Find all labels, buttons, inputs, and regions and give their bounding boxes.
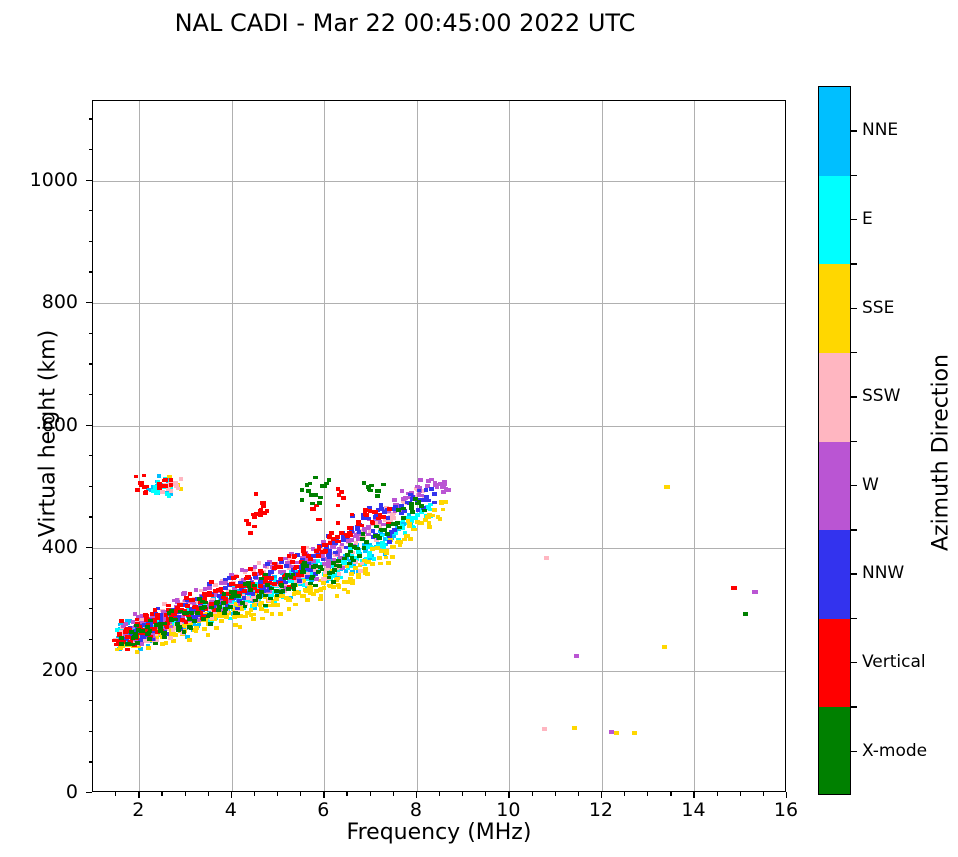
data-point bbox=[300, 570, 305, 574]
x-tick-minor bbox=[208, 792, 209, 796]
data-point bbox=[257, 594, 262, 598]
data-point bbox=[272, 582, 277, 586]
data-point bbox=[390, 555, 395, 559]
colorbar-band-ssw[interactable] bbox=[819, 353, 850, 442]
data-point bbox=[179, 477, 184, 481]
data-point bbox=[305, 598, 310, 602]
data-point bbox=[409, 506, 414, 510]
data-point bbox=[259, 590, 264, 594]
x-tick-minor bbox=[578, 792, 579, 796]
x-tick-label: 16 bbox=[774, 799, 798, 821]
data-point bbox=[386, 524, 391, 528]
data-point bbox=[415, 520, 420, 524]
data-point bbox=[285, 573, 290, 577]
data-point bbox=[155, 616, 160, 620]
data-point bbox=[265, 509, 270, 513]
y-axis-label: Virtual height (km) bbox=[36, 154, 61, 714]
data-point bbox=[662, 645, 667, 649]
data-point bbox=[372, 557, 377, 561]
data-point bbox=[297, 579, 302, 583]
data-point bbox=[201, 617, 206, 621]
data-point bbox=[270, 612, 275, 616]
plot-area[interactable] bbox=[92, 100, 786, 792]
x-tick-minor bbox=[555, 792, 556, 796]
x-tick-label: 8 bbox=[410, 799, 422, 821]
colorbar[interactable] bbox=[818, 86, 851, 795]
colorbar-band-sse[interactable] bbox=[819, 264, 850, 353]
data-point bbox=[392, 498, 397, 502]
y-tick bbox=[86, 792, 92, 793]
x-tick-minor bbox=[740, 792, 741, 796]
data-point bbox=[664, 485, 669, 489]
data-point bbox=[310, 575, 315, 579]
data-point bbox=[387, 540, 392, 544]
data-point bbox=[336, 559, 341, 563]
data-point bbox=[194, 630, 199, 634]
data-point bbox=[317, 501, 322, 505]
data-point bbox=[310, 507, 315, 511]
data-point bbox=[342, 557, 347, 561]
data-point bbox=[411, 528, 416, 532]
x-tick-label: 10 bbox=[496, 799, 520, 821]
colorbar-band-nnw[interactable] bbox=[819, 530, 850, 619]
data-point bbox=[336, 540, 341, 544]
data-point bbox=[375, 494, 380, 498]
data-point bbox=[331, 561, 336, 565]
data-point bbox=[233, 623, 238, 627]
data-point bbox=[178, 610, 183, 614]
x-tick-minor bbox=[439, 792, 440, 796]
data-point bbox=[184, 596, 189, 600]
data-point bbox=[243, 615, 248, 619]
data-point bbox=[435, 486, 440, 490]
data-point bbox=[354, 547, 359, 551]
data-point bbox=[310, 502, 315, 506]
data-point bbox=[160, 490, 165, 494]
data-point bbox=[261, 505, 266, 509]
data-point bbox=[379, 507, 384, 511]
data-point bbox=[348, 543, 353, 547]
data-point bbox=[335, 535, 340, 539]
data-point bbox=[213, 583, 218, 587]
colorbar-boundary-tick bbox=[851, 352, 857, 353]
data-point bbox=[276, 603, 281, 607]
data-point bbox=[214, 626, 219, 630]
data-point bbox=[254, 492, 259, 496]
data-point bbox=[291, 583, 296, 587]
data-point bbox=[119, 619, 124, 623]
data-point bbox=[331, 580, 336, 584]
y-tick-minor bbox=[89, 363, 93, 364]
data-point bbox=[242, 596, 247, 600]
data-point bbox=[148, 619, 153, 623]
data-point bbox=[263, 604, 268, 608]
x-tick-label: 4 bbox=[225, 799, 237, 821]
data-point bbox=[432, 508, 437, 512]
x-tick bbox=[231, 792, 232, 798]
x-tick-minor bbox=[393, 792, 394, 796]
data-point bbox=[396, 508, 401, 512]
colorbar-label-vertical: Vertical bbox=[862, 652, 926, 672]
data-point bbox=[350, 581, 355, 585]
data-point bbox=[348, 550, 353, 554]
data-point bbox=[308, 582, 313, 586]
data-point bbox=[356, 522, 361, 526]
x-tick-label: 12 bbox=[589, 799, 613, 821]
data-point bbox=[743, 612, 748, 616]
data-point bbox=[194, 588, 199, 592]
data-point bbox=[367, 487, 372, 491]
data-point bbox=[424, 488, 429, 492]
data-point bbox=[614, 731, 619, 735]
data-point bbox=[401, 507, 406, 511]
data-point bbox=[350, 513, 355, 517]
data-point bbox=[252, 603, 257, 607]
data-point bbox=[401, 516, 406, 520]
data-point bbox=[182, 630, 187, 634]
data-point bbox=[342, 588, 347, 592]
data-point bbox=[327, 478, 332, 482]
data-point bbox=[272, 566, 277, 570]
y-tick-minor bbox=[89, 118, 93, 119]
data-point bbox=[322, 586, 327, 590]
data-point bbox=[283, 577, 288, 581]
x-tick bbox=[323, 792, 324, 798]
data-point bbox=[279, 590, 284, 594]
data-point bbox=[258, 603, 263, 607]
data-point bbox=[157, 623, 162, 627]
data-point bbox=[284, 564, 289, 568]
data-point bbox=[134, 475, 139, 479]
data-point bbox=[279, 560, 284, 564]
data-point bbox=[422, 509, 427, 513]
x-tick-minor bbox=[254, 792, 255, 796]
data-point bbox=[222, 611, 227, 615]
data-point bbox=[542, 727, 547, 731]
data-point bbox=[350, 556, 355, 560]
data-point bbox=[544, 556, 549, 560]
colorbar-boundary-tick bbox=[851, 529, 857, 530]
data-point bbox=[272, 562, 277, 566]
data-point bbox=[125, 648, 130, 652]
data-point bbox=[291, 573, 296, 577]
data-point bbox=[399, 512, 404, 516]
data-point bbox=[327, 556, 332, 560]
colorbar-label-x-mode: X-mode bbox=[862, 741, 927, 761]
data-point bbox=[313, 584, 318, 588]
data-point bbox=[386, 516, 391, 520]
data-point bbox=[609, 730, 614, 734]
colorbar-tick bbox=[851, 396, 857, 397]
data-point bbox=[242, 589, 247, 593]
data-point bbox=[129, 630, 134, 634]
y-tick bbox=[86, 670, 92, 671]
data-point bbox=[441, 490, 446, 494]
data-point bbox=[190, 611, 195, 615]
data-point bbox=[142, 474, 147, 478]
data-point bbox=[349, 538, 354, 542]
data-point bbox=[135, 650, 140, 654]
data-point bbox=[168, 636, 173, 640]
data-point bbox=[207, 587, 212, 591]
data-point bbox=[216, 608, 221, 612]
x-tick-minor bbox=[763, 792, 764, 796]
data-point bbox=[337, 586, 342, 590]
data-point bbox=[341, 496, 346, 500]
data-point bbox=[219, 619, 224, 623]
data-point bbox=[348, 533, 353, 537]
data-point bbox=[252, 584, 257, 588]
data-point bbox=[417, 500, 422, 504]
data-point bbox=[300, 488, 305, 492]
data-point bbox=[264, 609, 269, 613]
data-point bbox=[347, 526, 352, 530]
x-tick-minor bbox=[370, 792, 371, 796]
data-point bbox=[200, 600, 205, 604]
data-point bbox=[175, 622, 180, 626]
colorbar-label-e: E bbox=[862, 209, 873, 229]
data-point bbox=[381, 544, 386, 548]
data-point bbox=[181, 592, 186, 596]
data-point bbox=[407, 522, 412, 526]
data-point bbox=[279, 583, 284, 587]
data-point bbox=[322, 550, 327, 554]
data-point bbox=[384, 549, 389, 553]
data-point bbox=[251, 592, 256, 596]
x-tick-minor bbox=[462, 792, 463, 796]
y-tick bbox=[86, 425, 92, 426]
data-point bbox=[402, 538, 407, 542]
colorbar-label-sse: SSE bbox=[862, 298, 894, 318]
x-tick bbox=[416, 792, 417, 798]
y-tick-minor bbox=[89, 271, 93, 272]
data-point bbox=[247, 585, 252, 589]
data-point bbox=[135, 488, 140, 492]
data-point bbox=[363, 512, 368, 516]
colorbar-label-ssw: SSW bbox=[862, 386, 900, 406]
data-point bbox=[331, 585, 336, 589]
data-point bbox=[300, 498, 305, 502]
data-point bbox=[293, 567, 298, 571]
colorbar-tick bbox=[851, 130, 857, 131]
data-point bbox=[572, 726, 577, 730]
data-point bbox=[436, 515, 441, 519]
data-point bbox=[410, 510, 415, 514]
x-tick-minor bbox=[624, 792, 625, 796]
data-point bbox=[144, 614, 149, 618]
colorbar-tick bbox=[851, 662, 857, 663]
data-point bbox=[400, 489, 405, 493]
data-point bbox=[378, 562, 383, 566]
data-point bbox=[287, 607, 292, 611]
data-point bbox=[360, 537, 365, 541]
data-point bbox=[244, 519, 249, 523]
x-tick-minor bbox=[115, 792, 116, 796]
data-point bbox=[119, 636, 124, 640]
data-point bbox=[369, 484, 374, 488]
data-point bbox=[387, 507, 392, 511]
data-point bbox=[442, 482, 447, 486]
data-point bbox=[377, 556, 382, 560]
data-point bbox=[337, 572, 342, 576]
data-point bbox=[269, 576, 274, 580]
y-tick-minor bbox=[89, 455, 93, 456]
data-point bbox=[278, 557, 283, 561]
data-point bbox=[237, 594, 242, 598]
data-point bbox=[752, 590, 757, 594]
data-point bbox=[187, 638, 192, 642]
data-point bbox=[153, 642, 158, 646]
y-tick-minor bbox=[89, 241, 93, 242]
data-point bbox=[259, 577, 264, 581]
data-point bbox=[279, 565, 284, 569]
data-point bbox=[333, 551, 338, 555]
y-tick bbox=[86, 180, 92, 181]
colorbar-band-x-mode[interactable] bbox=[819, 707, 850, 795]
data-point bbox=[317, 518, 322, 522]
data-point bbox=[358, 569, 363, 573]
data-point bbox=[268, 604, 273, 608]
data-point bbox=[133, 632, 138, 636]
data-point bbox=[316, 554, 321, 558]
x-tick-minor bbox=[717, 792, 718, 796]
y-tick-minor bbox=[89, 639, 93, 640]
data-point bbox=[417, 489, 422, 493]
colorbar-band-vertical[interactable] bbox=[819, 619, 850, 708]
data-point bbox=[365, 572, 370, 576]
data-point bbox=[398, 543, 403, 547]
data-point bbox=[173, 633, 178, 637]
data-point bbox=[426, 479, 431, 483]
data-point bbox=[146, 646, 151, 650]
data-point bbox=[189, 626, 194, 630]
data-point bbox=[426, 499, 431, 503]
data-point bbox=[135, 641, 140, 645]
data-point bbox=[355, 527, 360, 531]
data-point bbox=[157, 474, 162, 478]
colorbar-band-nne[interactable] bbox=[819, 87, 850, 176]
data-point bbox=[176, 628, 181, 632]
data-point bbox=[246, 611, 251, 615]
data-point bbox=[222, 592, 227, 596]
data-point bbox=[292, 587, 297, 591]
colorbar-band-w[interactable] bbox=[819, 442, 850, 531]
data-point bbox=[321, 558, 326, 562]
data-point bbox=[263, 594, 268, 598]
data-point bbox=[231, 576, 236, 580]
colorbar-label-nnw: NNW bbox=[862, 563, 904, 583]
data-point bbox=[246, 522, 251, 526]
data-point bbox=[408, 537, 413, 541]
data-point bbox=[381, 483, 386, 487]
data-point bbox=[416, 508, 421, 512]
colorbar-boundary-tick bbox=[851, 263, 857, 264]
data-point bbox=[337, 564, 342, 568]
data-point bbox=[252, 572, 257, 576]
y-tick-minor bbox=[89, 516, 93, 517]
y-tick-minor bbox=[89, 149, 93, 150]
x-tick-label: 2 bbox=[132, 799, 144, 821]
data-point bbox=[173, 481, 178, 485]
data-point bbox=[246, 596, 251, 600]
data-point bbox=[229, 595, 234, 599]
x-tick-minor bbox=[300, 792, 301, 796]
data-point bbox=[433, 481, 438, 485]
data-point bbox=[119, 642, 124, 646]
data-point bbox=[301, 566, 306, 570]
data-point bbox=[234, 611, 239, 615]
data-point bbox=[251, 613, 256, 617]
x-tick-minor bbox=[346, 792, 347, 796]
data-point bbox=[251, 617, 256, 621]
colorbar-boundary-tick bbox=[851, 706, 857, 707]
colorbar-band-e[interactable] bbox=[819, 176, 850, 265]
data-point bbox=[301, 549, 306, 553]
data-point bbox=[375, 489, 380, 493]
data-point bbox=[114, 643, 119, 647]
data-point bbox=[209, 594, 214, 598]
x-tick-minor bbox=[485, 792, 486, 796]
data-point bbox=[275, 594, 280, 598]
data-point bbox=[336, 521, 341, 525]
x-tick bbox=[138, 792, 139, 798]
data-point bbox=[162, 636, 167, 640]
colorbar-tick bbox=[851, 485, 857, 486]
data-point bbox=[429, 487, 434, 491]
data-point bbox=[432, 501, 437, 505]
data-point bbox=[228, 605, 233, 609]
data-point bbox=[323, 485, 328, 489]
data-point bbox=[253, 599, 258, 603]
data-point bbox=[286, 587, 291, 591]
y-tick-minor bbox=[89, 394, 93, 395]
data-point bbox=[259, 607, 264, 611]
data-point bbox=[731, 586, 736, 590]
data-point bbox=[362, 481, 367, 485]
data-point bbox=[247, 575, 252, 579]
data-point bbox=[209, 606, 214, 610]
data-point bbox=[163, 622, 168, 626]
x-tick-label: 6 bbox=[317, 799, 329, 821]
y-tick bbox=[86, 547, 92, 548]
data-point bbox=[317, 547, 322, 551]
data-point bbox=[248, 588, 253, 592]
x-axis-label: Frequency (MHz) bbox=[92, 820, 786, 845]
data-point bbox=[238, 625, 243, 629]
data-point bbox=[336, 504, 341, 508]
data-point bbox=[136, 629, 141, 633]
data-point bbox=[357, 554, 362, 558]
data-point bbox=[427, 525, 432, 529]
x-tick bbox=[508, 792, 509, 798]
data-point bbox=[292, 555, 297, 559]
x-tick-minor bbox=[670, 792, 671, 796]
data-point bbox=[185, 604, 190, 608]
data-point bbox=[166, 604, 171, 608]
data-point bbox=[367, 560, 372, 564]
data-point bbox=[313, 493, 318, 497]
colorbar-tick bbox=[851, 751, 857, 752]
data-point bbox=[208, 622, 213, 626]
data-point bbox=[251, 513, 256, 517]
data-point bbox=[367, 551, 372, 555]
data-point bbox=[202, 605, 207, 609]
data-point bbox=[313, 564, 318, 568]
data-point bbox=[419, 478, 424, 482]
y-tick-label: 0 bbox=[66, 781, 78, 803]
data-points-layer bbox=[93, 101, 785, 791]
colorbar-label-w: W bbox=[862, 475, 879, 495]
